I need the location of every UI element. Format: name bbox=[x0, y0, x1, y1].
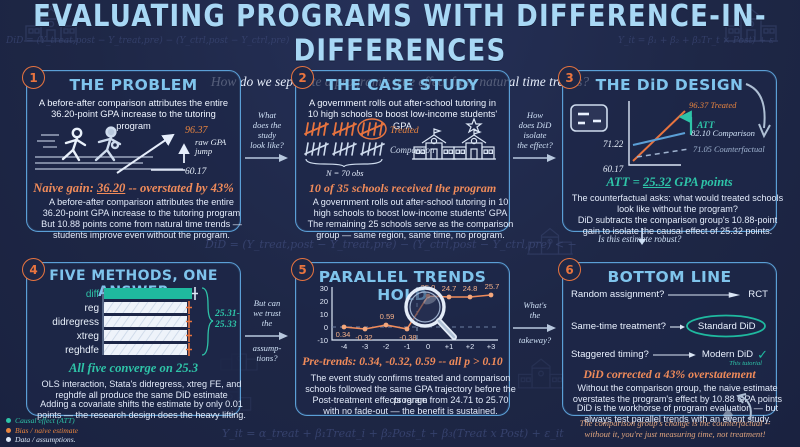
connector-4-line-3: takeway? bbox=[510, 335, 560, 345]
legend-label-bias: Bias / naive estimate bbox=[15, 426, 78, 435]
panel-2-body-1: A government rolls out after-school tuto… bbox=[296, 197, 525, 219]
connector-3-line-4: assump- bbox=[243, 343, 291, 353]
panel-1-number-badge: 1 bbox=[22, 66, 45, 89]
svg-text:60.17: 60.17 bbox=[185, 167, 208, 177]
arrow-down-icon bbox=[636, 228, 648, 246]
arrow-right-icon bbox=[653, 351, 698, 359]
connector-1-line-4: look like? bbox=[243, 140, 291, 150]
connector-2-line-2: does DiD bbox=[510, 120, 560, 130]
panel-3-number-badge: 3 bbox=[558, 66, 581, 89]
decision-answer-1: RCT bbox=[748, 289, 768, 300]
legend-label-causal: Causal effect (ATT) bbox=[15, 416, 75, 425]
case-study-graphic: Treated Comparison N = 70 obs bbox=[302, 117, 504, 179]
panel-3-headline: ATT = 25.32 GPA points bbox=[563, 175, 776, 190]
robust-question-label: Is this estimate robust? bbox=[598, 234, 778, 244]
svg-text:diff: diff bbox=[86, 289, 99, 300]
panel-the-case-study[interactable]: THE CASE STUDY A government rolls out af… bbox=[295, 70, 510, 232]
arrow-right-icon bbox=[513, 323, 557, 333]
svg-text:-0.32: -0.32 bbox=[355, 333, 372, 342]
svg-text:0.59: 0.59 bbox=[380, 312, 395, 321]
panel-6-number-badge: 6 bbox=[558, 258, 581, 281]
decision-question-1: Random assignment? bbox=[571, 289, 664, 300]
arrow-right-icon bbox=[245, 153, 289, 163]
decision-row: Same-time treatment? Standard DiD bbox=[571, 319, 768, 334]
panel-5-body-2: Post-treatment effects range from 24.71 … bbox=[296, 395, 525, 417]
panel-1-headline-suffix: -- overstated by 43% bbox=[125, 181, 233, 195]
connector-3-line-2: we trust bbox=[243, 308, 291, 318]
svg-text:96.37 Treated: 96.37 Treated bbox=[689, 100, 737, 110]
legend-label-data: Data / assumptions. bbox=[15, 435, 76, 444]
legend: Causal effect (ATT) Bias / naive estimat… bbox=[6, 416, 78, 444]
panel-4-number-badge: 4 bbox=[22, 258, 45, 281]
svg-text:+3: +3 bbox=[487, 342, 495, 351]
panel-1-headline-prefix: Naive gain: bbox=[33, 181, 97, 195]
svg-text:24.8: 24.8 bbox=[463, 284, 478, 293]
footnote: The comparison group's change is the cou… bbox=[560, 418, 790, 440]
circle-highlight-icon bbox=[685, 314, 767, 338]
panel-3-att-value: 25.32 bbox=[643, 175, 671, 189]
svg-text:-4: -4 bbox=[341, 342, 348, 351]
panel-the-problem[interactable]: THE PROBLEM A before-after comparison at… bbox=[26, 70, 241, 232]
decision-question-3: Staggered timing? bbox=[571, 349, 649, 360]
legend-dot-icon bbox=[6, 418, 11, 423]
svg-text:0: 0 bbox=[426, 342, 430, 351]
panel-2-number-badge: 2 bbox=[291, 66, 314, 89]
connector-1-to-2: What does the study look like? bbox=[243, 110, 291, 163]
svg-text:96.37: 96.37 bbox=[185, 125, 209, 136]
connector-2-line-1: How bbox=[510, 110, 560, 120]
connector-2-line-3: isolate bbox=[510, 130, 560, 140]
connector-2-to-3: How does DiD isolate the effect? bbox=[510, 110, 560, 163]
svg-text:+2: +2 bbox=[466, 342, 474, 351]
panel-3-headline-suffix: GPA points bbox=[671, 175, 732, 189]
svg-text:reghdfe: reghdfe bbox=[65, 345, 99, 356]
connector-1-line-1: What bbox=[243, 110, 291, 120]
decision-row: Random assignment? RCT bbox=[571, 289, 768, 300]
legend-dot-icon bbox=[6, 437, 11, 442]
svg-text:xtreg: xtreg bbox=[77, 331, 99, 342]
panel-6-headline: DiD corrected a 43% overstatement bbox=[563, 367, 776, 382]
decision-question-2: Same-time treatment? bbox=[571, 321, 666, 332]
problem-chart: 96.37 60.17 raw GPA jump bbox=[33, 119, 233, 181]
panel-parallel-trends[interactable]: PARALLEL TRENDS HOLD 302010 0-10 bbox=[295, 262, 510, 416]
svg-text:+1: +1 bbox=[445, 342, 453, 351]
arrow-right-icon bbox=[670, 323, 686, 331]
svg-text:-2: -2 bbox=[383, 342, 390, 351]
methods-bar-chart: diff reg didregress xtreg reghdfe bbox=[31, 285, 237, 357]
svg-text:10: 10 bbox=[320, 310, 328, 319]
connector-1-line-2: does the bbox=[243, 120, 291, 130]
svg-text:-3: -3 bbox=[362, 342, 369, 351]
panel-6-title: BOTTOM LINE bbox=[563, 268, 776, 286]
footnote-line-1: The comparison group's change is the cou… bbox=[560, 418, 790, 429]
legend-item-causal: Causal effect (ATT) bbox=[6, 416, 78, 425]
svg-text:30: 30 bbox=[320, 284, 328, 293]
page-title: EVALUATING PROGRAMS WITH DIFFERENCE-IN-D… bbox=[0, 0, 800, 69]
svg-text:-10: -10 bbox=[317, 336, 328, 345]
svg-text:didregress: didregress bbox=[52, 317, 99, 328]
svg-text:25.31-: 25.31- bbox=[214, 308, 240, 319]
panel-2-title: THE CASE STUDY bbox=[296, 76, 509, 94]
panel-5-number-badge: 5 bbox=[291, 258, 314, 281]
svg-text:71.05 Counterfactual: 71.05 Counterfactual bbox=[693, 145, 765, 154]
curved-arrow-icon bbox=[742, 82, 776, 144]
connector-3-line-1: But can bbox=[243, 298, 291, 308]
connector-4-line-2: the bbox=[510, 310, 560, 320]
svg-text:20: 20 bbox=[320, 297, 328, 306]
svg-text:Treated: Treated bbox=[390, 126, 419, 136]
magnifier-icon bbox=[406, 288, 454, 337]
panel-4-headline: All five converge on 25.3 bbox=[27, 361, 240, 376]
svg-text:Comparison: Comparison bbox=[390, 145, 435, 155]
panel-1-title: THE PROBLEM bbox=[27, 76, 240, 94]
svg-text:25.33: 25.33 bbox=[214, 319, 237, 330]
panel-3-body-1: The counterfactual asks: what would trea… bbox=[563, 193, 792, 215]
this-tutorial-note: This tutorial bbox=[729, 360, 762, 367]
panel-3-headline-prefix: ATT = bbox=[606, 175, 643, 189]
panel-1-naive-gain-value: 36.20 bbox=[97, 181, 125, 195]
connector-1-line-3: study bbox=[243, 130, 291, 140]
connector-5-to-6: What's the takeway? bbox=[510, 300, 560, 345]
arrow-right-icon bbox=[513, 153, 557, 163]
svg-text:60.17: 60.17 bbox=[603, 164, 624, 174]
connector-4-to-5: But can we trust the assump- tions? bbox=[243, 298, 291, 363]
connector-2-line-4: the effect? bbox=[510, 140, 560, 150]
svg-text:reg: reg bbox=[85, 303, 99, 314]
infographic-canvas: DiD = (Y_treat,post − Y_treat,pre) − (Y_… bbox=[0, 0, 800, 447]
legend-item-data: Data / assumptions. bbox=[6, 435, 78, 444]
connector-3-line-5: tions? bbox=[243, 353, 291, 363]
svg-text:N = 70 obs: N = 70 obs bbox=[325, 169, 364, 178]
connector-3-line-3: the bbox=[243, 318, 291, 328]
panel-4-body-1: OLS interaction, Stata's didregress, xtr… bbox=[27, 379, 256, 401]
event-study-chart: 302010 0-10 bbox=[302, 283, 504, 353]
connector-4-line-1: What's bbox=[510, 300, 560, 310]
panel-2-body-2: The remaining 25 schools serve as the co… bbox=[296, 219, 525, 241]
legend-item-bias: Bias / naive estimate bbox=[6, 426, 78, 435]
decision-row: Staggered timing? Modern DiD ✓ bbox=[571, 349, 768, 360]
panel-1-body-1: A before-after comparison attributes the… bbox=[27, 197, 256, 219]
footnote-line-2: without it, you're just measuring time, … bbox=[560, 429, 790, 440]
decision-answer-2-circled: Standard DiD bbox=[690, 319, 764, 334]
panel-five-methods[interactable]: FIVE METHODS, ONE ANSWER diff reg bbox=[26, 262, 241, 416]
background-equation-bottom: Y_it = α_treat + β₁Treat_i + β₂Post_t + … bbox=[222, 427, 564, 440]
arrow-right-icon bbox=[668, 291, 744, 299]
decision-answer-3: Modern DiD bbox=[702, 349, 753, 360]
svg-text:0.34: 0.34 bbox=[336, 330, 351, 339]
svg-text:71.22: 71.22 bbox=[603, 139, 624, 149]
svg-text:-1: -1 bbox=[404, 342, 411, 351]
svg-text:jump: jump bbox=[194, 146, 213, 156]
panel-6-body-1: Without the comparison group, the naive … bbox=[563, 383, 792, 405]
panel-1-body-2: But 10.88 points come from natural time … bbox=[27, 219, 256, 241]
svg-text:25.7: 25.7 bbox=[485, 282, 500, 291]
panel-1-headline: Naive gain: 36.20 -- overstated by 43% bbox=[27, 181, 240, 196]
svg-text:-0.38: -0.38 bbox=[399, 333, 416, 342]
legend-dot-icon bbox=[6, 428, 11, 433]
svg-text:24.7: 24.7 bbox=[442, 284, 457, 293]
panel-2-headline: 10 of 35 schools received the program bbox=[296, 181, 509, 196]
panel-5-headline: Pre-trends: 0.34, -0.32, 0.59 -- all p >… bbox=[296, 355, 509, 368]
arrow-right-icon bbox=[245, 331, 289, 341]
check-icon: ✓ bbox=[757, 350, 768, 359]
svg-text:0: 0 bbox=[324, 323, 328, 332]
